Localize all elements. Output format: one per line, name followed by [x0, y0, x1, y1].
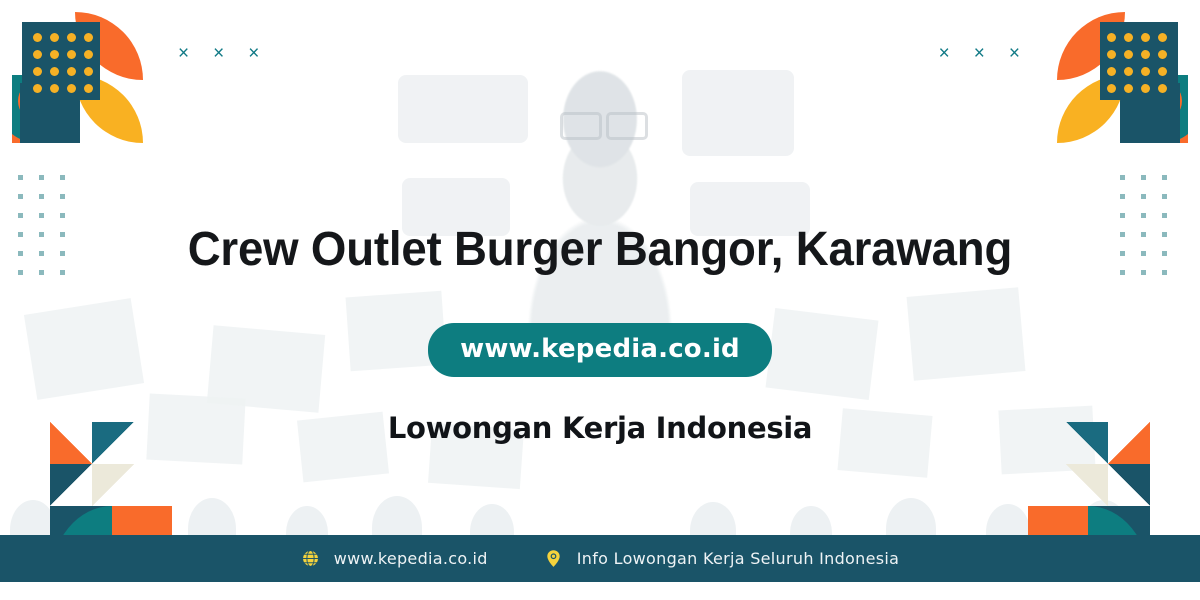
globe-icon — [301, 549, 320, 568]
page-title: Crew Outlet Burger Bangor, Karawang — [188, 222, 1012, 277]
footer-website-label: www.kepedia.co.id — [334, 549, 488, 568]
location-pin-icon — [544, 549, 563, 568]
banner-content: Crew Outlet Burger Bangor, Karawang www.… — [0, 0, 1200, 600]
banner-subtitle: Lowongan Kerja Indonesia — [388, 411, 812, 445]
footer-info-label: Info Lowongan Kerja Seluruh Indonesia — [577, 549, 899, 568]
footer-bar: www.kepedia.co.id Info Lowongan Kerja Se… — [0, 535, 1200, 582]
job-vacancy-banner: × × × × × × — [0, 0, 1200, 600]
footer-item-website[interactable]: www.kepedia.co.id — [301, 549, 488, 568]
website-url-badge[interactable]: www.kepedia.co.id — [428, 323, 772, 377]
footer-item-info[interactable]: Info Lowongan Kerja Seluruh Indonesia — [544, 549, 899, 568]
